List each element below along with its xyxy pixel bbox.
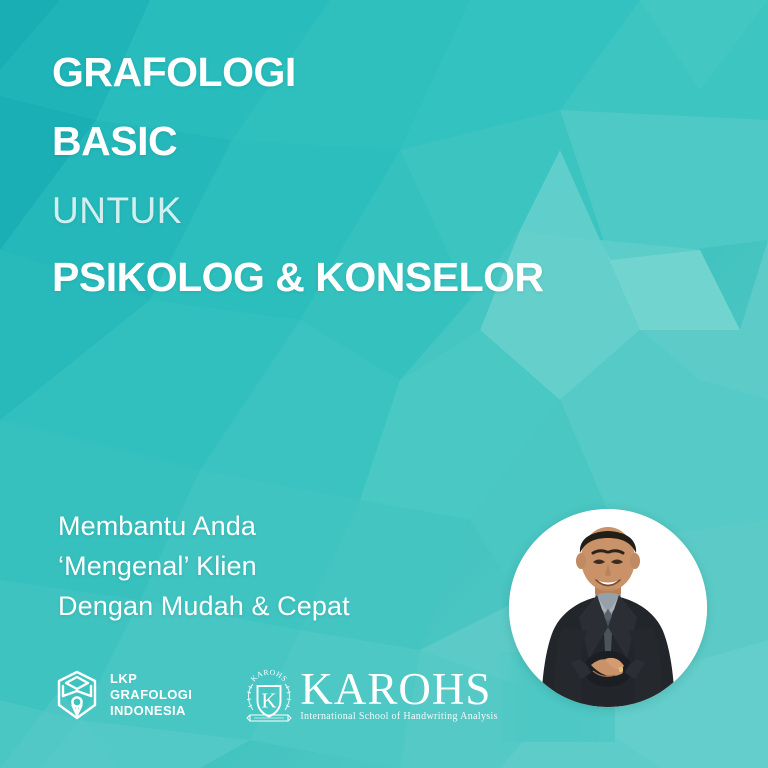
subcopy-line-3: Dengan Mudah & Cepat — [58, 588, 350, 626]
svg-text:KAROHS: KAROHS — [249, 667, 289, 683]
lkp-shield-pen-nib-icon — [55, 669, 99, 721]
headline-line-3: UNTUK — [52, 192, 732, 229]
lkp-wordmark-line-2: GRAFOLOGI — [110, 687, 192, 703]
lkp-wordmark-line-3: INDONESIA — [110, 703, 192, 719]
presenter-portrait-illustration — [509, 509, 707, 707]
karohs-wordmark: KAROHS — [300, 668, 498, 711]
karohs-tagline: International School of Handwriting Anal… — [300, 711, 498, 722]
logo-row: LKP GRAFOLOGI INDONESIA KAROHS — [55, 666, 498, 724]
karohs-wordmark-block: KAROHS International School of Handwriti… — [300, 668, 498, 723]
promo-card: GRAFOLOGI BASIC UNTUK PSIKOLOG & KONSELO… — [0, 0, 768, 768]
subcopy-line-2: ‘Mengenal’ Klien — [58, 548, 350, 586]
subcopy-block: Membantu Anda ‘Mengenal’ Klien Dengan Mu… — [58, 508, 350, 627]
presenter-portrait — [509, 509, 707, 707]
lkp-grafologi-indonesia-logo: LKP GRAFOLOGI INDONESIA — [55, 669, 192, 721]
karohs-crest-icon: KAROHS K — [243, 666, 295, 724]
headline-line-4: PSIKOLOG & KONSELOR — [52, 257, 732, 298]
svg-text:K: K — [262, 689, 277, 713]
headline-line-2: BASIC — [52, 121, 732, 162]
karohs-logo: KAROHS K KA — [243, 666, 498, 724]
lkp-wordmark-line-1: LKP — [110, 671, 192, 687]
subcopy-line-1: Membantu Anda — [58, 508, 350, 546]
headline-line-1: GRAFOLOGI — [52, 52, 732, 93]
headline-block: GRAFOLOGI BASIC UNTUK PSIKOLOG & KONSELO… — [52, 52, 732, 298]
lkp-wordmark: LKP GRAFOLOGI INDONESIA — [110, 671, 192, 719]
